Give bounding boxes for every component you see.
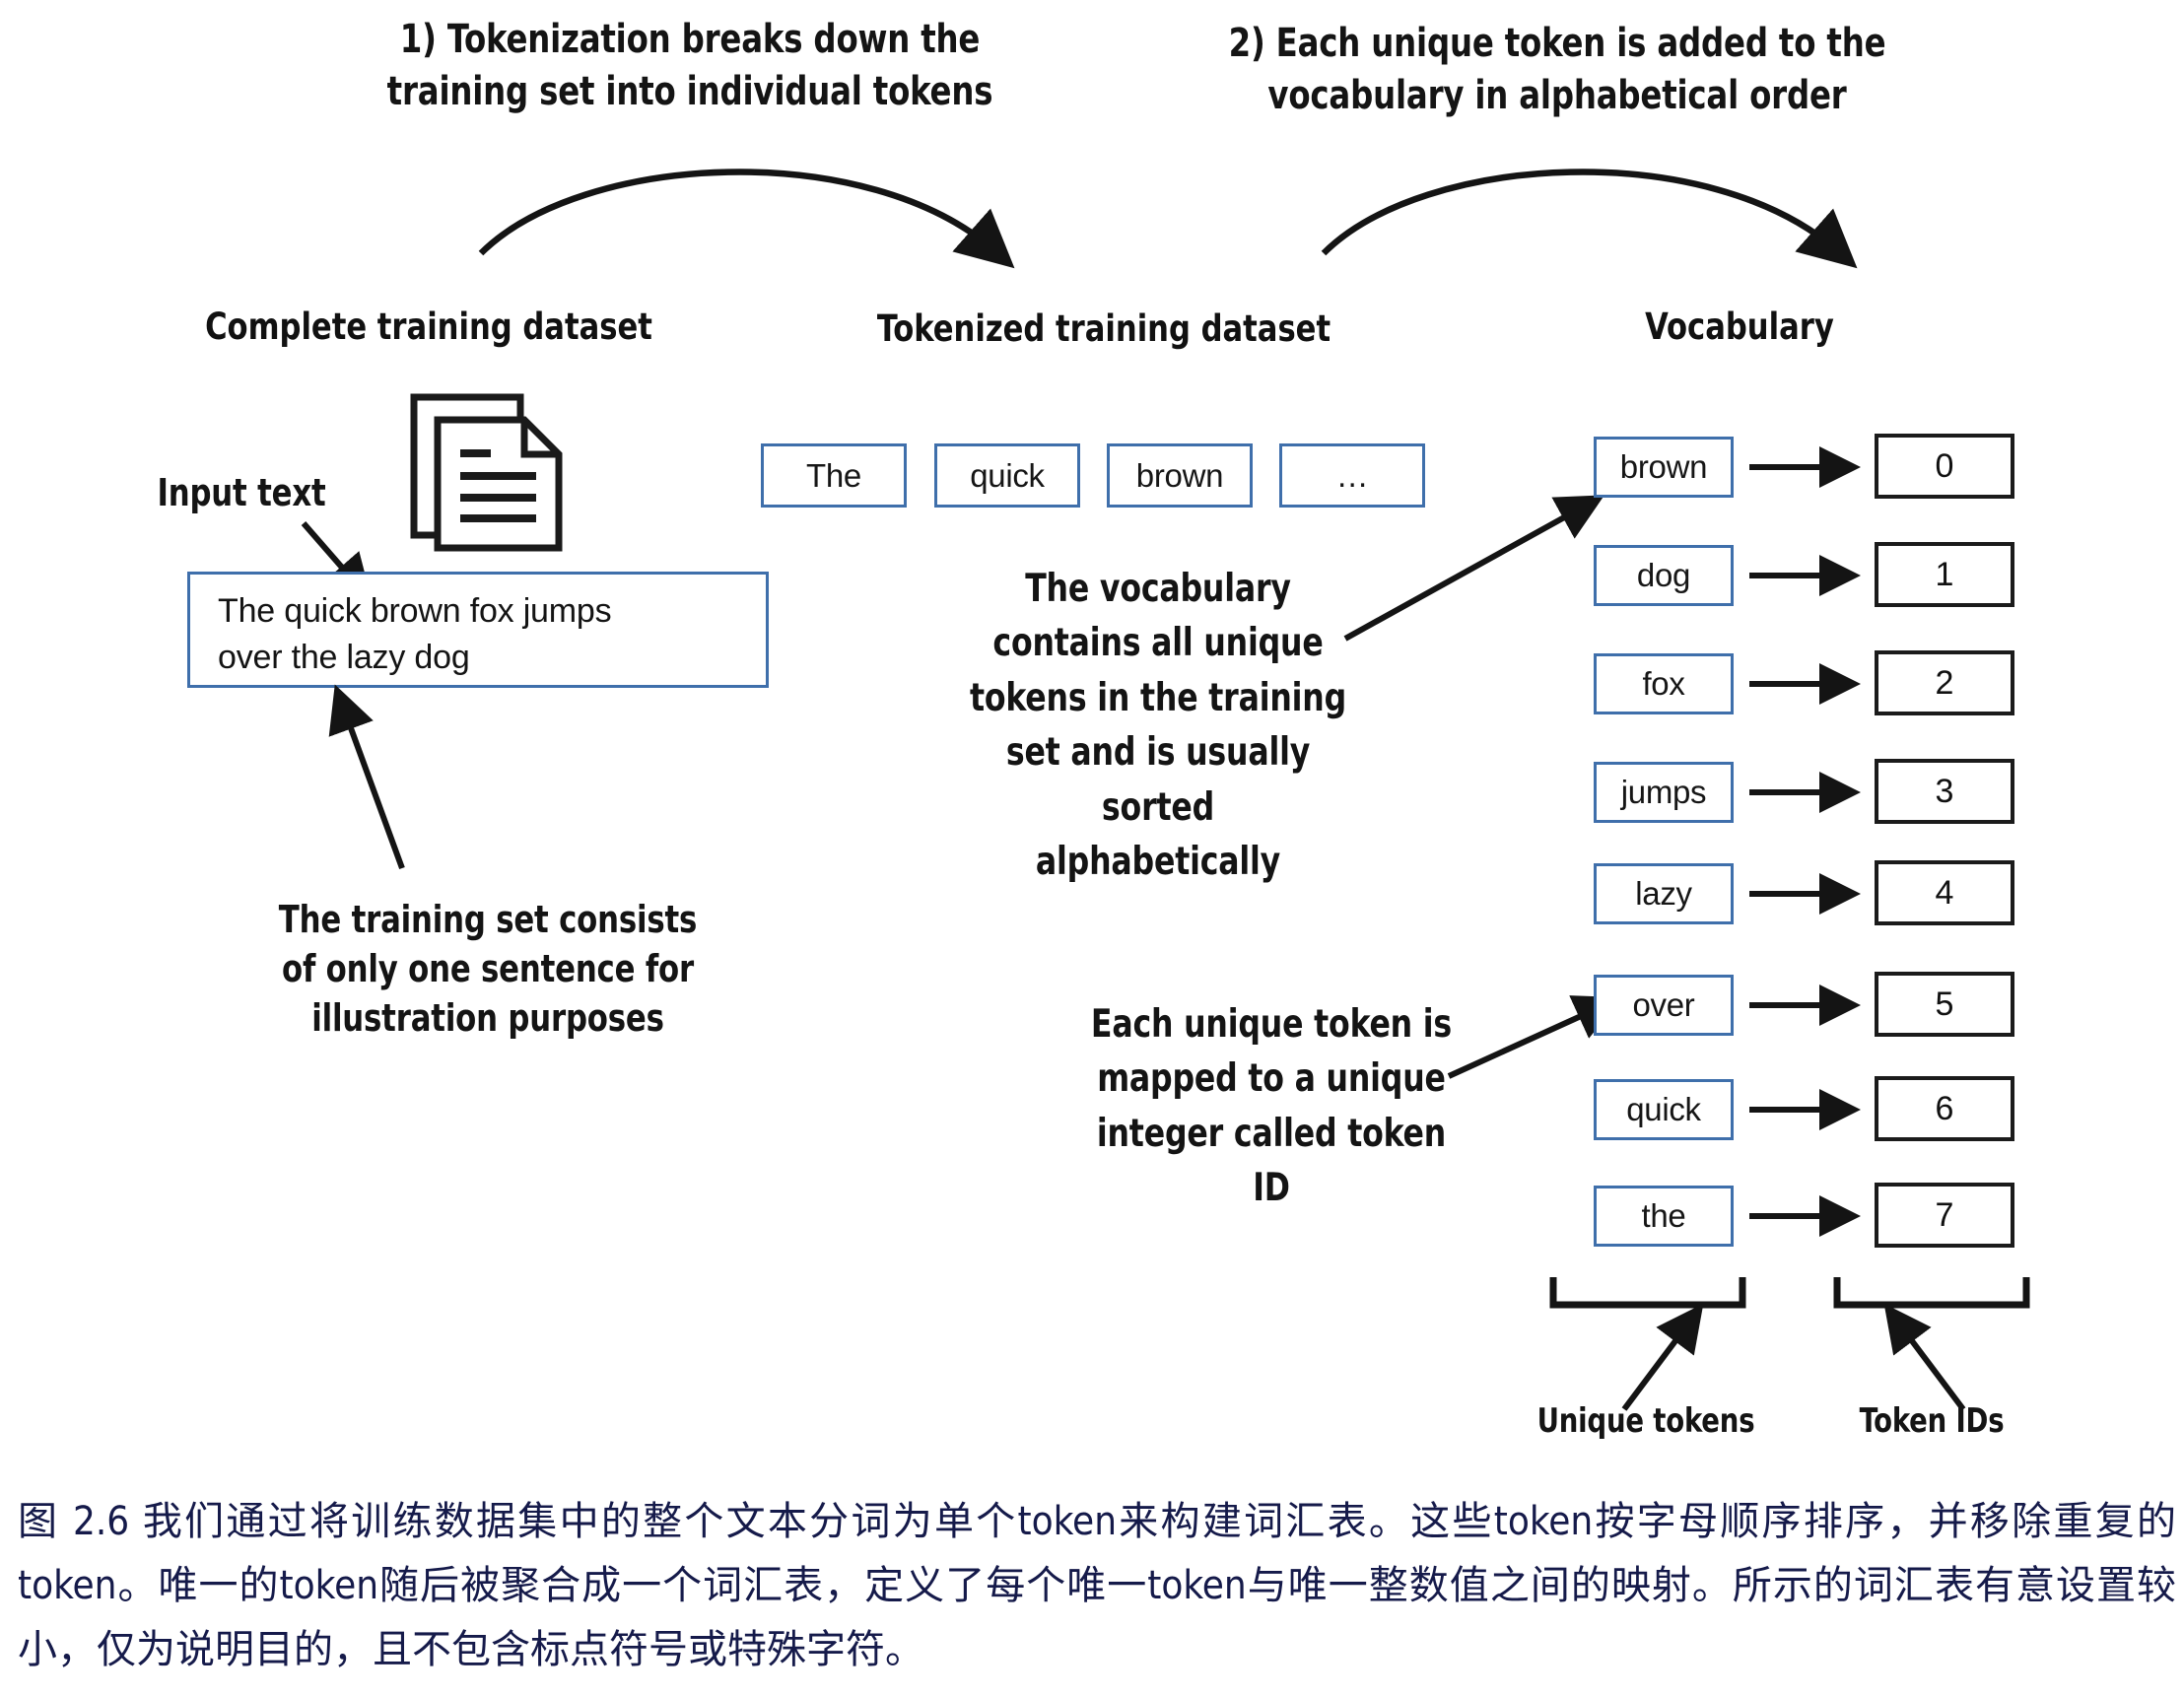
step-annotation-2-line-2: vocabulary in alphabetical order: [1207, 70, 1908, 122]
step-annotation-1-line-2: training set into individual tokens: [362, 66, 1018, 118]
bracket-unique-tokens: [1549, 1273, 1746, 1313]
vocabulary-note-line-6: alphabetically: [959, 835, 1358, 889]
figure-caption: 图 2.6 我们通过将训练数据集中的整个文本分词为单个token来构建词汇表。这…: [18, 1490, 2176, 1681]
token-id-note-line-3: integer called token: [1085, 1107, 1458, 1161]
training-set-note-line-2: of only one sentence for: [266, 944, 710, 993]
input-text-line-2: over the lazy dog: [218, 635, 766, 681]
vocab-token-the[interactable]: the: [1594, 1186, 1734, 1247]
training-set-note-arrow: [315, 695, 444, 877]
vocabulary-note: The vocabulary contains all unique token…: [959, 562, 1358, 889]
vocab-token-lazy[interactable]: lazy: [1594, 863, 1734, 924]
vocab-id-5[interactable]: 5: [1875, 972, 2014, 1037]
map-arrow-7: [1749, 1204, 1858, 1228]
vocab-token-jumps[interactable]: jumps: [1594, 762, 1734, 823]
vocab-token-over[interactable]: over: [1594, 975, 1734, 1036]
token-id-note-line-4: ID: [1085, 1161, 1458, 1215]
token-box-brown[interactable]: brown: [1107, 443, 1253, 508]
curved-arrow-step-1: [463, 143, 1055, 291]
input-text-label: Input text: [135, 468, 348, 517]
vocab-id-0[interactable]: 0: [1875, 434, 2014, 499]
token-box-quick[interactable]: quick: [934, 443, 1080, 508]
token-id-note: Each unique token is mapped to a unique …: [1085, 997, 1458, 1216]
token-box-the[interactable]: The: [761, 443, 907, 508]
vocab-id-6[interactable]: 6: [1875, 1076, 2014, 1141]
heading-tokenized-training-dataset: Tokenized training dataset: [832, 307, 1376, 350]
map-arrow-5: [1749, 993, 1858, 1017]
input-text-line-1: The quick brown fox jumps: [218, 588, 766, 635]
figure-tokenization-vocabulary: 1) Tokenization breaks down the training…: [0, 0, 2184, 1478]
vocab-id-1[interactable]: 1: [1875, 542, 2014, 607]
map-arrow-0: [1749, 455, 1858, 479]
step-annotation-1-line-1: 1) Tokenization breaks down the: [362, 14, 1018, 66]
vocab-id-3[interactable]: 3: [1875, 759, 2014, 824]
map-arrow-6: [1749, 1098, 1858, 1121]
vocabulary-note-arrow: [1335, 493, 1611, 650]
input-text-box[interactable]: The quick brown fox jumps over the lazy …: [187, 572, 769, 688]
vocabulary-note-line-2: contains all unique: [959, 616, 1358, 670]
vocab-id-2[interactable]: 2: [1875, 650, 2014, 715]
vocab-id-7[interactable]: 7: [1875, 1183, 2014, 1248]
step-annotation-2-line-1: 2) Each unique token is added to the: [1207, 18, 1908, 70]
step-annotation-1: 1) Tokenization breaks down the training…: [362, 14, 1018, 118]
vocab-token-quick[interactable]: quick: [1594, 1079, 1734, 1140]
vocab-token-dog[interactable]: dog: [1594, 545, 1734, 606]
map-arrow-2: [1749, 672, 1858, 696]
heading-complete-training-dataset: Complete training dataset: [162, 305, 697, 348]
map-arrow-1: [1749, 564, 1858, 587]
vocab-token-brown[interactable]: brown: [1594, 437, 1734, 498]
vocab-token-fox[interactable]: fox: [1594, 653, 1734, 714]
label-unique-tokens: Unique tokens: [1495, 1399, 1797, 1444]
vocabulary-note-line-3: tokens in the training: [959, 671, 1358, 725]
map-arrow-4: [1749, 882, 1858, 906]
documents-stack-icon: [406, 392, 564, 555]
bracket-token-ids: [1833, 1273, 2030, 1313]
vocabulary-note-line-4: set and is usually: [959, 725, 1358, 780]
step-annotation-2: 2) Each unique token is added to the voc…: [1207, 18, 1908, 122]
vocabulary-note-line-1: The vocabulary: [959, 562, 1358, 616]
heading-vocabulary: Vocabulary: [1531, 305, 1947, 348]
token-id-note-line-1: Each unique token is: [1085, 997, 1458, 1052]
training-set-note-line-1: The training set consists: [266, 895, 710, 944]
training-set-note-line-3: illustration purposes: [266, 993, 710, 1043]
vocabulary-note-line-5: sorted: [959, 781, 1358, 835]
label-token-ids: Token IDs: [1799, 1399, 2065, 1444]
training-set-note: The training set consists of only one se…: [266, 895, 710, 1043]
token-id-note-line-2: mapped to a unique: [1085, 1052, 1458, 1106]
map-arrow-3: [1749, 781, 1858, 804]
vocab-id-4[interactable]: 4: [1875, 860, 2014, 925]
curved-arrow-step-2: [1306, 143, 1897, 291]
